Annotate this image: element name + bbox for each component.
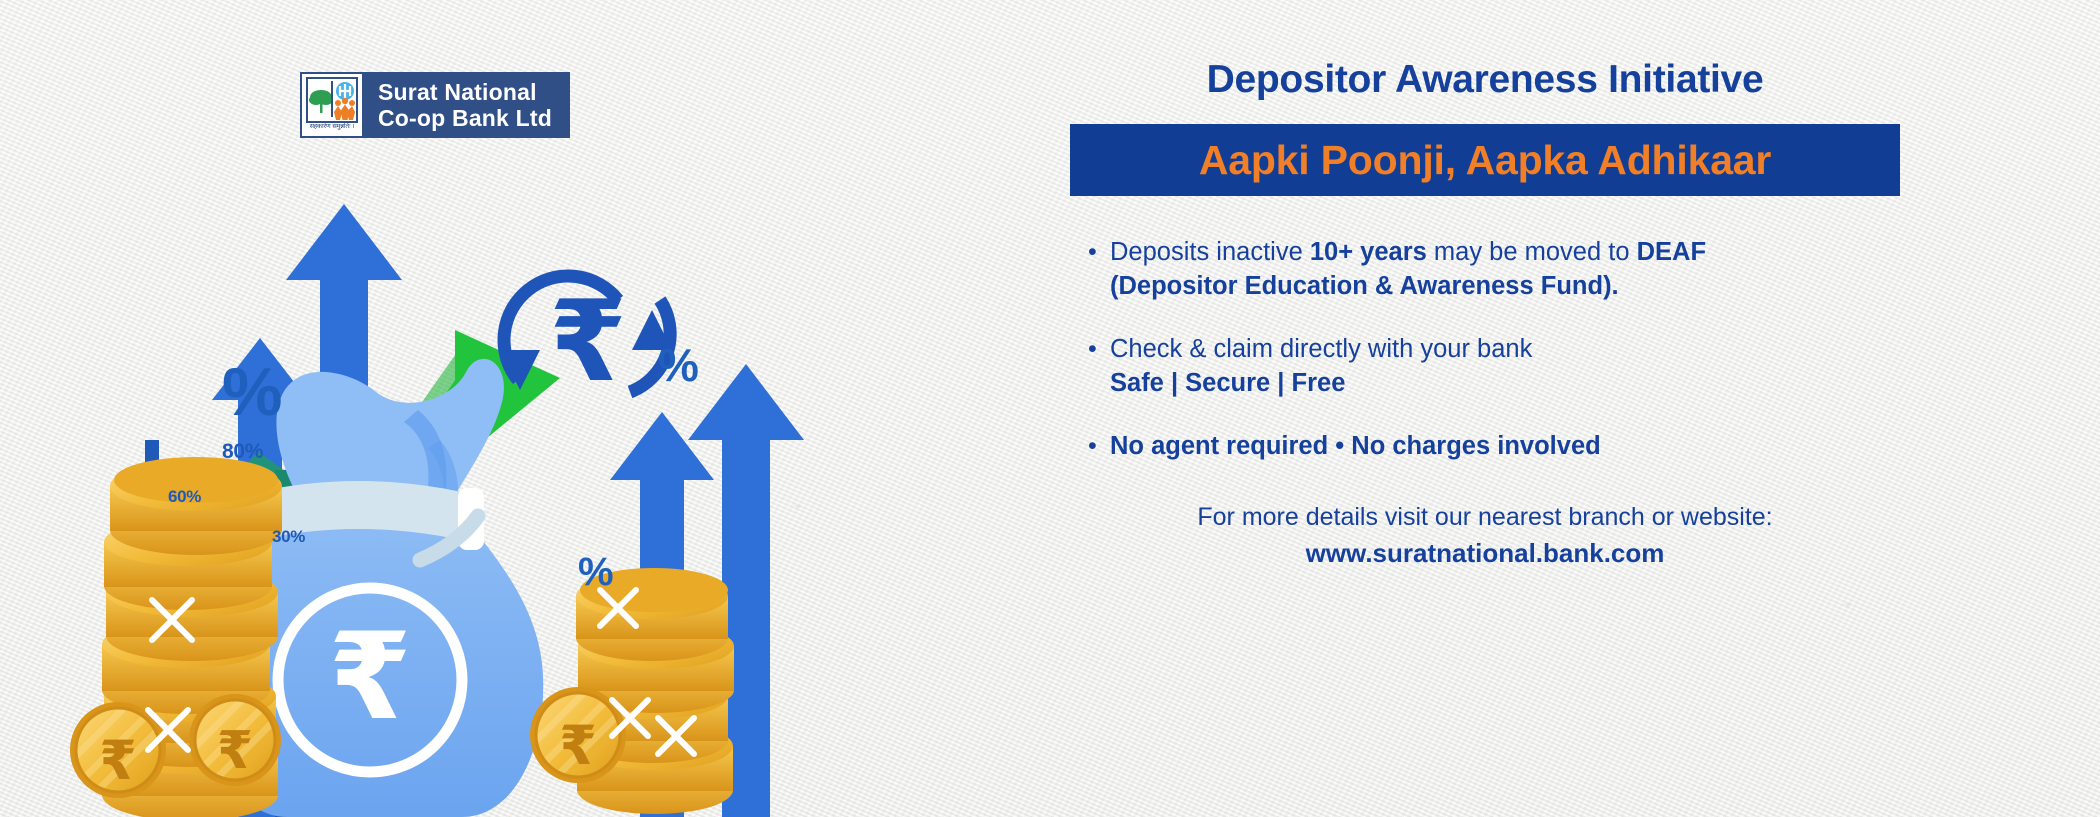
bullet-0-pre: Deposits inactive [1110,238,1310,266]
bank-emblem-icon [336,82,354,100]
bullet-marker: • [1088,333,1110,401]
bullet-text: Deposits inactive 10+ years may be moved… [1110,236,1900,304]
tagline-text: Aapki Poonji, Aapka Adhikaar [1199,137,1771,184]
footer-contact: For more details visit our nearest branc… [1070,500,1900,573]
percent-symbol-large-right: % [658,338,698,392]
bar-label-60: 60% [168,487,201,507]
bullet-0-line-2: (Depositor Education & Awareness Fund). [1110,270,1900,304]
bank-logo[interactable]: सहकारेण समुन्नतिः । Surat National Co-op… [300,72,570,138]
footer-prompt: For more details visit our nearest branc… [1070,500,1900,535]
tagline-banner: Aapki Poonji, Aapka Adhikaar [1070,124,1900,196]
percent-symbol-large-left: % [222,353,281,431]
people-icon [334,98,355,120]
bullet-0-bold-2: DEAF [1637,238,1706,266]
rupee-symbol-recycle: ₹ [549,277,627,407]
logo-art [306,77,358,123]
logo-line-1: Surat National [378,79,552,105]
copy-column: Depositor Awareness Initiative Aapki Poo… [1070,58,1900,572]
bar-label-30: 30% [272,527,305,547]
svg-text:₹: ₹ [217,721,253,781]
logo-motto: सहकारेण समुन्नतिः । [310,123,355,130]
svg-text:₹: ₹ [99,729,137,792]
list-item: • No agent required • No charges involve… [1088,430,1900,464]
page-title: Depositor Awareness Initiative [1070,58,1900,102]
rupee-symbol: ₹ [328,608,412,747]
website-link[interactable]: www.suratnational.bank.com [1070,535,1900,573]
logo-emblem: सहकारेण समुन्नतिः । [302,74,364,136]
bullet-1-line-1: Check & claim directly with your bank [1110,335,1532,363]
logo-line-2: Co-op Bank Ltd [378,105,552,131]
bullet-1-line-2: Safe | Secure | Free [1110,367,1900,401]
list-item: • Check & claim directly with your bankS… [1088,333,1900,401]
bullet-0-mid: may be moved to [1427,238,1637,266]
bullet-list: • Deposits inactive 10+ years may be mov… [1070,236,1900,464]
depositor-awareness-banner: ₹ ₹ [0,0,2100,817]
svg-text:₹: ₹ [559,714,597,777]
logo-wordmark: Surat National Co-op Bank Ltd [364,74,568,136]
bullet-2-line-1: No agent required • No charges involved [1110,432,1601,460]
list-item: • Deposits inactive 10+ years may be mov… [1088,236,1900,304]
bullet-text: Check & claim directly with your bankSaf… [1110,333,1900,401]
bullet-marker: • [1088,236,1110,304]
bar-label-80: 80% [222,440,263,464]
bullet-text: No agent required • No charges involved [1110,430,1900,464]
bullet-marker: • [1088,430,1110,464]
bullet-0-bold-1: 10+ years [1310,238,1427,266]
percent-symbol-small-right: % [578,550,613,595]
